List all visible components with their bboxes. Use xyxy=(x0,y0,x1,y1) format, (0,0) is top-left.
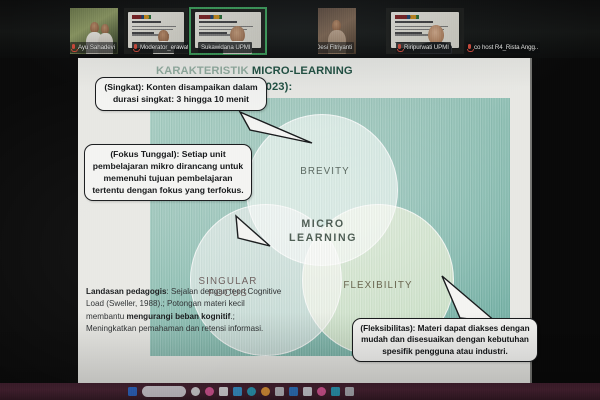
taskbar-icon-10[interactable] xyxy=(303,387,312,396)
taskbar-icon-4[interactable] xyxy=(219,387,228,396)
institution-logo-icon xyxy=(132,15,151,19)
participant-name-5: co host R4_Rista Angg.. xyxy=(474,44,538,51)
participant-name-2: Sukawidana UPMI xyxy=(199,44,250,51)
microphone-muted-icon xyxy=(467,44,472,52)
callout-brevity[interactable]: (Singkat): Konten disampaikan dalam dura… xyxy=(95,77,267,111)
windows-taskbar[interactable] xyxy=(0,383,600,400)
taskbar-icon-13[interactable] xyxy=(345,387,354,396)
taskbar-icon-5[interactable] xyxy=(233,387,242,396)
taskbar-icon-3[interactable] xyxy=(205,387,214,396)
participant-name-1: Moderator_erawatiUP.. xyxy=(140,44,188,51)
slide-title-regular: KARAKTERISTIK xyxy=(156,65,252,77)
taskbar-icon-6[interactable] xyxy=(247,387,256,396)
participant-tile-1[interactable]: Moderator_erawatiUP.. xyxy=(124,8,188,54)
participant-name-chip-5: co host R4_Rista Angg.. xyxy=(466,42,540,53)
taskbar-search-box[interactable] xyxy=(142,386,186,397)
participant-name-chip-3: Desi Fitriyanti xyxy=(318,42,354,53)
participant-name-0: Ayu Sahadevi xyxy=(78,44,115,51)
callout-tail-singular-focus xyxy=(236,216,278,250)
microphone-muted-icon xyxy=(71,44,76,52)
institution-logo-icon xyxy=(199,15,222,19)
participant-name-3: Desi Fitriyanti xyxy=(318,44,352,51)
venn-label-flexibility: FLEXIBILITY xyxy=(328,280,428,292)
zoom-participant-filmstrip[interactable]: Ayu Sahadevi Moderator_erawatiUP.. xyxy=(0,0,600,58)
pedagogy-lead: Landasan pedagogis xyxy=(86,287,167,296)
callout-flexibility[interactable]: (Fleksibilitas): Materi dapat diakses de… xyxy=(352,318,538,362)
venn-label-singular-focus: SINGULAR FOCUS xyxy=(182,276,274,300)
venn-label-brevity: BREVITY xyxy=(282,166,368,178)
participant-tile-3[interactable]: Desi Fitriyanti xyxy=(318,8,356,54)
participant-tile-4[interactable]: Riripurwati UPMI xyxy=(386,8,464,54)
participant-tile-0[interactable]: Ayu Sahadevi xyxy=(70,8,118,54)
screen-bezel-right xyxy=(530,58,600,384)
laptop-screen-photo: Ayu Sahadevi Moderator_erawatiUP.. xyxy=(0,0,600,400)
taskbar-icon-8[interactable] xyxy=(275,387,284,396)
taskbar-icon-0[interactable] xyxy=(128,387,137,396)
participant-name-chip-2: Sukawidana UPMI xyxy=(198,42,252,53)
participant-name-chip-1: Moderator_erawatiUP.. xyxy=(132,42,188,53)
microphone-muted-icon xyxy=(133,44,138,52)
screen-bezel-left xyxy=(0,58,78,384)
taskbar-icon-7[interactable] xyxy=(261,387,270,396)
venn-label-micro-learning: MICRO LEARNING xyxy=(268,218,378,246)
microphone-muted-icon xyxy=(397,44,402,52)
taskbar-icon-2[interactable] xyxy=(191,387,200,396)
taskbar-icon-9[interactable] xyxy=(289,387,298,396)
slide-title-bold: MICRO-LEARNING xyxy=(252,65,353,77)
participant-name-chip-4: Riripurwati UPMI xyxy=(396,42,451,53)
participant-tile-2-active-speaker[interactable]: Sukawidana UPMI xyxy=(190,8,266,54)
participant-name-4: Riripurwati UPMI xyxy=(404,44,449,51)
taskbar-icon-11[interactable] xyxy=(317,387,326,396)
callout-singular-focus[interactable]: (Fokus Tunggal): Setiap unit pembelajara… xyxy=(84,144,252,201)
pedagogy-bold-2: mengurangi beban kognitif xyxy=(127,312,231,321)
taskbar-icon-12[interactable] xyxy=(331,387,340,396)
callout-tail-brevity xyxy=(240,110,320,146)
participant-name-chip-0: Ayu Sahadevi xyxy=(70,42,117,53)
institution-logo-icon xyxy=(395,15,418,19)
